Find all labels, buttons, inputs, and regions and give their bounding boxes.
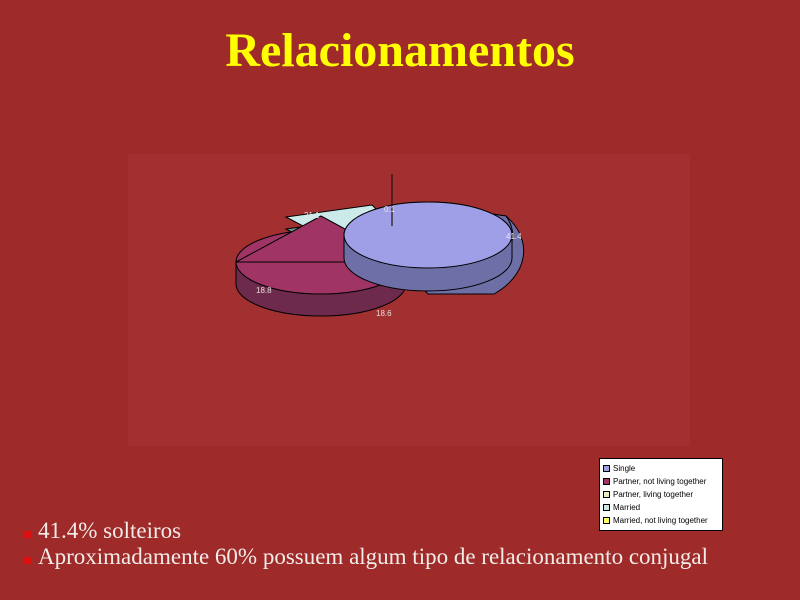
list-item-label: 41.4% solteiros (38, 518, 780, 544)
legend-item-partner-living[interactable]: Partner, living together (603, 488, 719, 501)
body-placeholder: 41.4% solteiros Aproximadamente 60% poss… (24, 518, 780, 570)
legend-item-partner-not-living[interactable]: Partner, not living together (603, 475, 719, 488)
slide: Relacionamentos (0, 0, 800, 600)
legend-swatch-icon (603, 504, 610, 511)
legend-swatch-icon (603, 491, 610, 498)
pie-chart-object[interactable]: 21.1 0.1 41.4 18.8 18.6 Single Partner, … (128, 154, 690, 446)
bullet-square-icon (24, 557, 31, 564)
chart-plot-area: 21.1 0.1 41.4 18.8 18.6 Single Partner, … (128, 154, 690, 446)
list-item: 41.4% solteiros (24, 518, 780, 544)
pie-3d-graphic (128, 154, 690, 446)
legend-item-single[interactable]: Single (603, 462, 719, 475)
data-label-partner-living: 18.8 (256, 287, 272, 295)
pie-slice-single (344, 202, 524, 294)
legend-swatch-icon (603, 478, 610, 485)
legend-label: Married (613, 504, 640, 512)
legend-label: Partner, living together (613, 491, 693, 499)
data-label-partner-not-living: 18.6 (376, 310, 392, 318)
page-title: Relacionamentos (0, 26, 800, 76)
bullet-square-icon (24, 531, 31, 538)
data-label-single: 41.4 (506, 233, 522, 241)
data-label-married-not-living: 0.1 (384, 206, 395, 214)
list-item: Aproximadamente 60% possuem algum tipo d… (24, 544, 780, 570)
legend-label: Partner, not living together (613, 478, 706, 486)
legend-swatch-icon (603, 465, 610, 472)
list-item-label: Aproximadamente 60% possuem algum tipo d… (38, 544, 780, 570)
pie-svg (128, 154, 690, 446)
data-label-married: 21.1 (304, 212, 320, 220)
legend-label: Single (613, 465, 635, 473)
legend-item-married[interactable]: Married (603, 501, 719, 514)
